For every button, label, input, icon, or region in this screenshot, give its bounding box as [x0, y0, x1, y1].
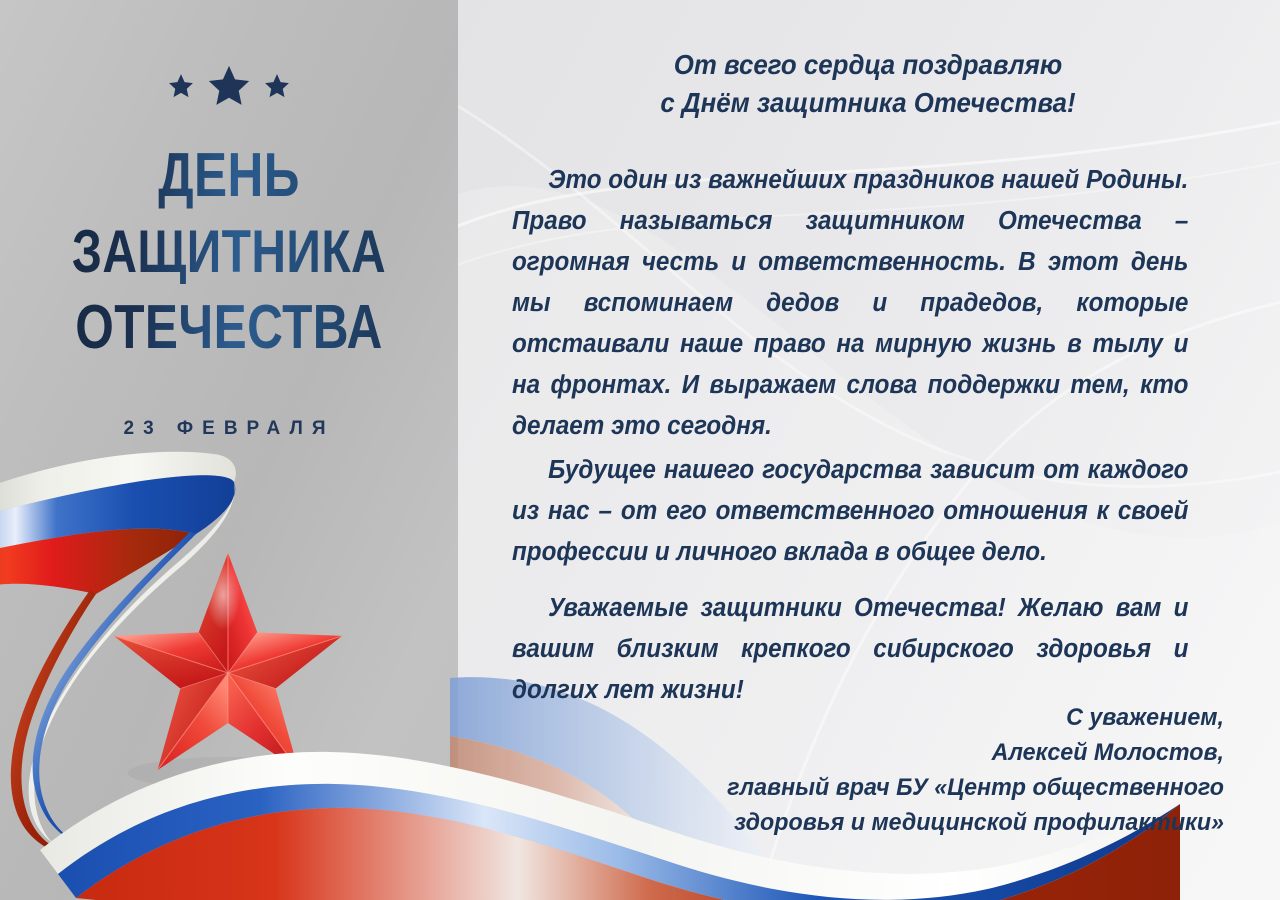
greeting-line-1: От всего сердца поздравляю [533, 46, 1202, 84]
title-line-2: ЗАЩИТНИКА [46, 214, 412, 290]
signature-line-2: Алексей Молостов, [654, 735, 1224, 770]
signature-line-1: С уважением, [654, 700, 1224, 735]
greeting-card: ДЕНЬ ЗАЩИТНИКА ОТЕЧЕСТВА 23 ФЕВРАЛЯ [0, 0, 1280, 900]
signature-block: С уважением, Алексей Молостов, главный в… [654, 700, 1224, 840]
signature-line-4: здоровья и медицинской профилактики» [654, 805, 1224, 840]
star-large-center-icon [207, 64, 251, 108]
title-line-1: ДЕНЬ [46, 138, 412, 214]
body-paragraph-3: Уважаемые защитники Отечества! Желаю вам… [512, 588, 1188, 711]
star-small-right-icon [264, 73, 290, 99]
title-line-3: ОТЕЧЕСТВА [46, 290, 412, 366]
greeting-heading: От всего сердца поздравляю с Днём защитн… [533, 46, 1202, 122]
decor-stars-row [0, 58, 458, 114]
star-small-left-icon [168, 73, 194, 99]
poster-title: ДЕНЬ ЗАЩИТНИКА ОТЕЧЕСТВА [0, 138, 458, 366]
body-paragraph-1: Это один из важнейших праздников нашей Р… [512, 160, 1188, 447]
ribbon-upper-band [0, 452, 236, 594]
signature-line-3: главный врач БУ «Центр общественного [654, 770, 1224, 805]
body-paragraph-2: Будущее нашего государства зависит от ка… [512, 450, 1188, 573]
greeting-line-2: с Днём защитника Отечества! [533, 84, 1202, 122]
